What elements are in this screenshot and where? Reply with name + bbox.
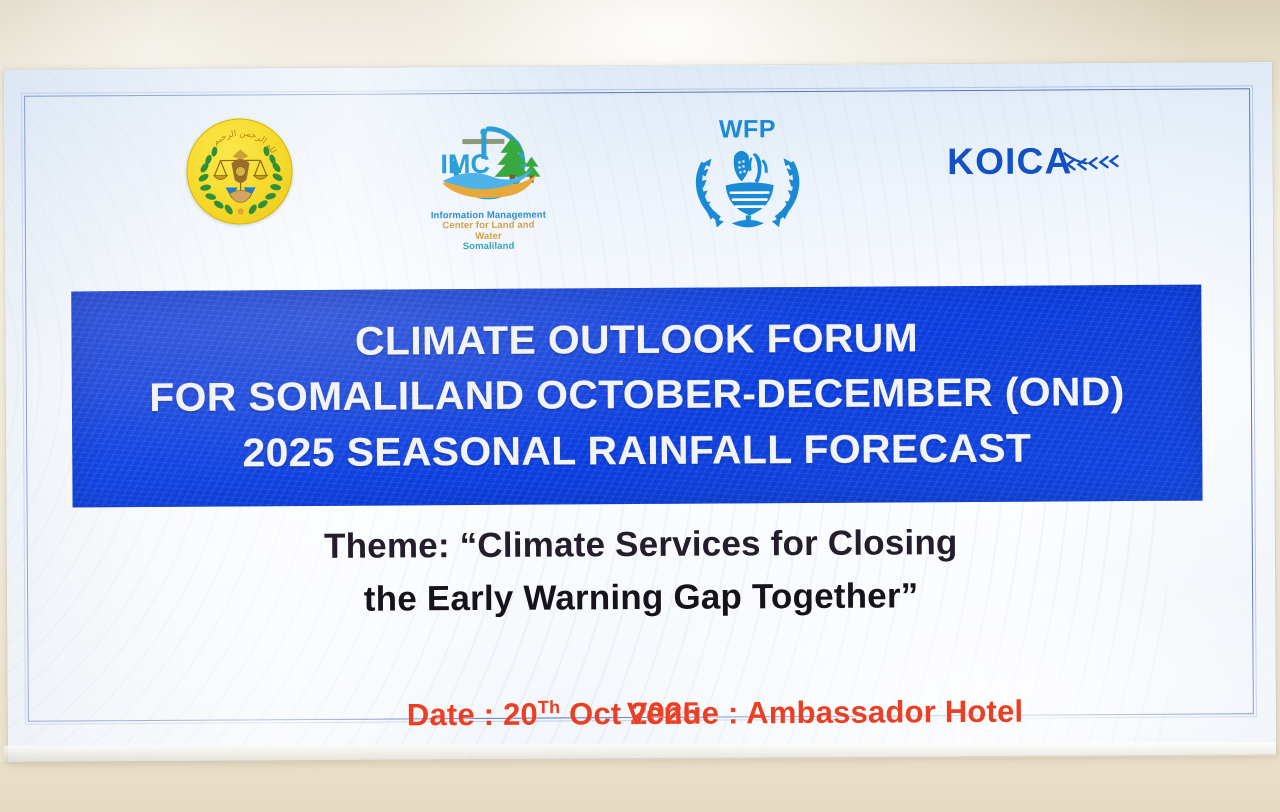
theme-block: Theme: “Climate Services for Closing the… [7, 514, 1276, 628]
title-line-2: FOR SOMALILAND OCTOBER-DECEMBER (OND) [149, 365, 1125, 426]
theme-line-1: Theme: “Climate Services for Closing [7, 514, 1275, 575]
wfp-logo: WFP [683, 115, 812, 232]
date-label: Date : [407, 697, 503, 733]
somaliland-emblem-icon: بسم الله الرحمن الرحيم [186, 118, 293, 225]
theme-line-2: the Early Warning Gap Together” [7, 567, 1275, 628]
imc-logo: IMC Information Management Center for La… [428, 123, 549, 253]
imc-caption-line-3: Somaliland [430, 241, 548, 252]
koica-logo: KOICA [947, 113, 1121, 182]
title-line-3: 2025 SEASONAL RAINFALL FORECAST [243, 421, 1032, 481]
date-suffix: Th [538, 697, 561, 717]
imc-caption-line-2: Center for Land and Water [429, 221, 547, 242]
imc-caption: Information Management Center for Land a… [429, 211, 547, 253]
koica-swoosh-icon [1058, 151, 1120, 181]
venue-label: Venue : [627, 695, 747, 731]
venue-value: Ambassador Hotel [746, 694, 1023, 731]
title-band: CLIMATE OUTLOOK FORUM FOR SOMALILAND OCT… [71, 285, 1202, 508]
event-date: Date : 20Th Oct 2025 [187, 696, 617, 735]
imc-mark-icon: IMC [428, 123, 549, 210]
date-day: 20 [503, 697, 538, 732]
title-line-1: CLIMATE OUTLOOK FORUM [355, 312, 918, 371]
event-venue: Venue : Ambassador Hotel [617, 693, 1097, 732]
koica-wordmark: KOICA [947, 142, 1072, 180]
wfp-wreath-icon [688, 141, 809, 232]
logo-row: بسم الله الرحمن الرحيم [4, 112, 1273, 280]
somaliland-emblem-logo: بسم الله الرحمن الرحيم [186, 118, 293, 225]
event-banner: بسم الله الرحمن الرحيم [4, 62, 1276, 762]
meta-row: Date : 20Th Oct 2025 Venue : Ambassador … [8, 692, 1276, 736]
